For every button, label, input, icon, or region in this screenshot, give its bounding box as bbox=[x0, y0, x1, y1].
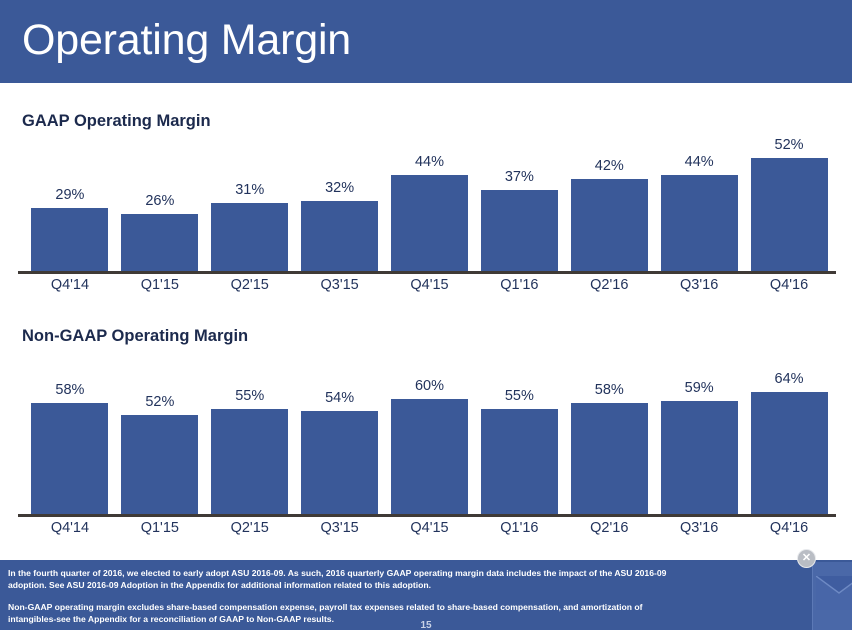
chart-1-heading: GAAP Operating Margin bbox=[22, 112, 211, 131]
page-title: Operating Margin bbox=[22, 11, 351, 69]
bar bbox=[391, 175, 468, 271]
bar bbox=[571, 403, 648, 514]
category-label: Q4'15 bbox=[385, 277, 475, 293]
slide-header-band: Operating Margin bbox=[0, 0, 852, 83]
slide-canvas: Operating Margin GAAP Operating Margin 2… bbox=[0, 0, 852, 630]
bar bbox=[31, 208, 108, 271]
bar bbox=[481, 409, 558, 514]
bar-value-label: 32% bbox=[300, 180, 380, 196]
footnote-asu-adoption: In the fourth quarter of 2016, we electe… bbox=[8, 568, 678, 591]
bar bbox=[121, 214, 198, 271]
close-icon[interactable]: ✕ bbox=[797, 549, 816, 568]
category-label: Q2'16 bbox=[564, 277, 654, 293]
bar-value-label: 44% bbox=[390, 154, 470, 170]
bar bbox=[121, 415, 198, 514]
bar-value-label: 37% bbox=[479, 169, 559, 185]
category-label: Q1'15 bbox=[115, 277, 205, 293]
bar-value-label: 52% bbox=[120, 394, 200, 410]
bar-value-label: 44% bbox=[659, 154, 739, 170]
bar-value-label: 26% bbox=[120, 193, 200, 209]
bar bbox=[751, 392, 828, 514]
email-overlay-widget[interactable] bbox=[812, 562, 852, 630]
bar-value-label: 58% bbox=[30, 382, 110, 398]
bar bbox=[31, 403, 108, 514]
bar-value-label: 59% bbox=[659, 380, 739, 396]
category-label: Q1'15 bbox=[115, 520, 205, 536]
chart-1-axis-line bbox=[18, 271, 836, 274]
bar bbox=[301, 411, 378, 514]
bar bbox=[571, 179, 648, 271]
bar bbox=[751, 158, 828, 271]
bar-value-label: 55% bbox=[479, 388, 559, 404]
chart-2-heading: Non-GAAP Operating Margin bbox=[22, 327, 248, 346]
bar bbox=[211, 409, 288, 514]
category-label: Q2'16 bbox=[564, 520, 654, 536]
bar bbox=[481, 190, 558, 271]
bar-value-label: 31% bbox=[210, 182, 290, 198]
category-label: Q1'16 bbox=[474, 520, 564, 536]
category-label: Q4'15 bbox=[385, 520, 475, 536]
bar bbox=[661, 175, 738, 271]
bar-value-label: 60% bbox=[390, 378, 470, 394]
category-label: Q3'15 bbox=[295, 277, 385, 293]
bar-value-label: 29% bbox=[30, 187, 110, 203]
bar bbox=[211, 203, 288, 271]
category-label: Q4'14 bbox=[25, 277, 115, 293]
page-number: 15 bbox=[0, 620, 852, 630]
bar-value-label: 55% bbox=[210, 388, 290, 404]
category-label: Q4'16 bbox=[744, 277, 834, 293]
envelope-icon bbox=[816, 576, 852, 610]
bar-value-label: 58% bbox=[569, 382, 649, 398]
category-label: Q4'16 bbox=[744, 520, 834, 536]
category-label: Q2'15 bbox=[205, 277, 295, 293]
category-label: Q3'15 bbox=[295, 520, 385, 536]
category-label: Q4'14 bbox=[25, 520, 115, 536]
category-label: Q1'16 bbox=[474, 277, 564, 293]
bar-value-label: 42% bbox=[569, 158, 649, 174]
chart-2-axis-line bbox=[18, 514, 836, 517]
bar bbox=[301, 201, 378, 271]
bar bbox=[391, 399, 468, 514]
bar bbox=[661, 401, 738, 514]
bar-value-label: 54% bbox=[300, 390, 380, 406]
category-label: Q3'16 bbox=[654, 277, 744, 293]
bar-value-label: 52% bbox=[749, 137, 829, 153]
bar-value-label: 64% bbox=[749, 371, 829, 387]
category-label: Q2'15 bbox=[205, 520, 295, 536]
category-label: Q3'16 bbox=[654, 520, 744, 536]
